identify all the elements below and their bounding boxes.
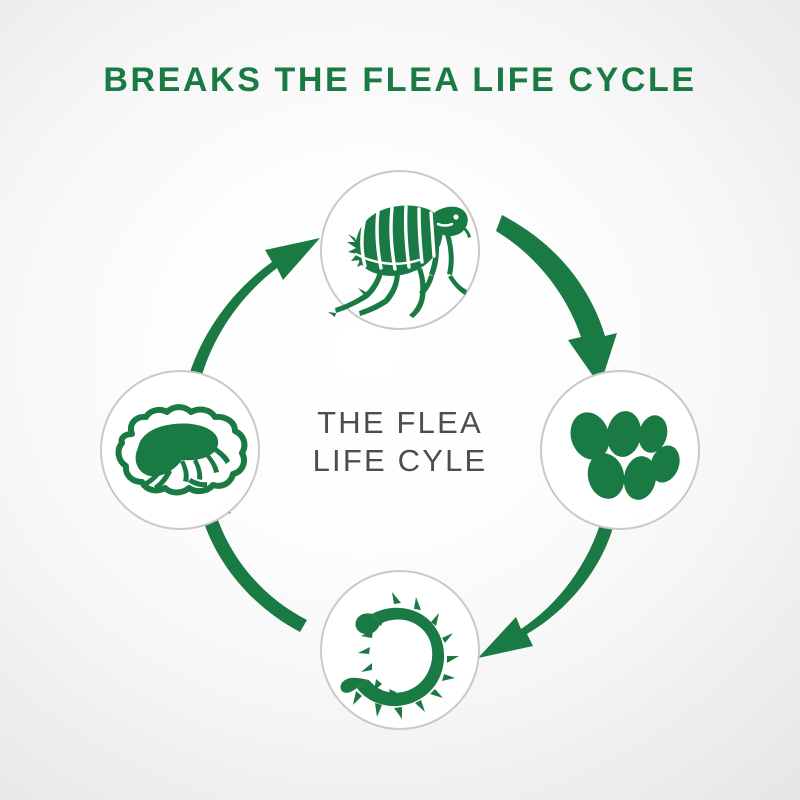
flea-eggs-icon [542,372,702,532]
center-label-line1: THE FLEA [250,404,550,442]
arrow-pupa-to-adult [186,238,320,386]
flea-larva-icon [322,572,482,732]
page-title: BREAKS THE FLEA LIFE CYCLE [0,60,800,100]
stage-adult-flea[interactable] [320,170,480,330]
stage-flea-pupa[interactable] [100,370,260,530]
arrow-eggs-to-larva [478,516,616,658]
flea-pupa-cocoon-icon [102,372,262,532]
stage-flea-eggs[interactable] [540,370,700,530]
center-label-line2: LIFE CYLE [250,442,550,480]
infographic-canvas: BREAKS THE FLEA LIFE CYCLE [0,0,800,800]
adult-flea-icon [322,172,482,332]
stage-flea-larva[interactable] [320,570,480,730]
center-label: THE FLEA LIFE CYLE [250,404,550,480]
arrow-adult-to-eggs [496,215,617,386]
